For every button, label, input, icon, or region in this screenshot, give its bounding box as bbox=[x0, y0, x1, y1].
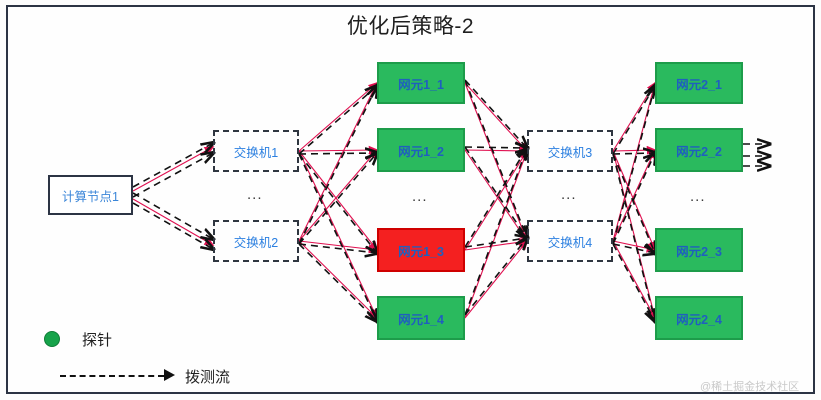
node-label: 网元2_1 bbox=[676, 74, 722, 93]
node-label: 交换机1 bbox=[234, 142, 278, 161]
node-label: 交换机4 bbox=[548, 232, 592, 251]
node-ne2_4[interactable]: 网元2_4 bbox=[655, 296, 743, 340]
node-label: 网元1_1 bbox=[398, 74, 444, 93]
dashed-arrow-icon bbox=[60, 375, 164, 377]
ellipsis-switch-right: ... bbox=[561, 186, 577, 203]
page-title: 优化后策略-2 bbox=[0, 10, 821, 40]
node-sw1[interactable]: 交换机1 bbox=[213, 130, 299, 172]
node-ne2_2[interactable]: 网元2_2 bbox=[655, 128, 743, 172]
node-label: 网元1_2 bbox=[398, 141, 444, 160]
node-ne1_4[interactable]: 网元1_4 bbox=[377, 296, 465, 340]
node-label: 交换机2 bbox=[234, 232, 278, 251]
probe-dot-icon bbox=[44, 331, 60, 347]
legend-flow-label: 拨测流 bbox=[185, 366, 230, 387]
ellipsis-switch-left: ... bbox=[247, 186, 263, 203]
node-ne1_1[interactable]: 网元1_1 bbox=[377, 62, 465, 104]
watermark: @稀土掘金技术社区 bbox=[700, 378, 799, 394]
node-label: 网元1_3 bbox=[398, 241, 444, 260]
node-sw2[interactable]: 交换机2 bbox=[213, 220, 299, 262]
node-ne2_1[interactable]: 网元2_1 bbox=[655, 62, 743, 104]
node-label: 交换机3 bbox=[548, 142, 592, 161]
dashed-arrow-head-icon bbox=[164, 369, 175, 381]
node-ne2_3[interactable]: 网元2_3 bbox=[655, 228, 743, 272]
node-label: 网元2_3 bbox=[676, 241, 722, 260]
node-sw3[interactable]: 交换机3 bbox=[527, 130, 613, 172]
ellipsis-ne-left: ... bbox=[412, 188, 428, 205]
legend-probe-label: 探针 bbox=[82, 329, 112, 350]
diagram-canvas: 优化后策略-2 计算节点1交换机1交换机2网元1_1网元1_2网元1_3网元1_… bbox=[0, 0, 821, 400]
node-label: 计算节点1 bbox=[62, 186, 119, 205]
node-label: 网元1_4 bbox=[398, 309, 444, 328]
node-label: 网元2_4 bbox=[676, 309, 722, 328]
node-compute1[interactable]: 计算节点1 bbox=[48, 175, 133, 215]
node-label: 网元2_2 bbox=[676, 141, 722, 160]
node-sw4[interactable]: 交换机4 bbox=[527, 220, 613, 262]
node-ne1_3[interactable]: 网元1_3 bbox=[377, 228, 465, 272]
node-ne1_2[interactable]: 网元1_2 bbox=[377, 128, 465, 172]
ellipsis-ne-right: ... bbox=[690, 188, 706, 205]
